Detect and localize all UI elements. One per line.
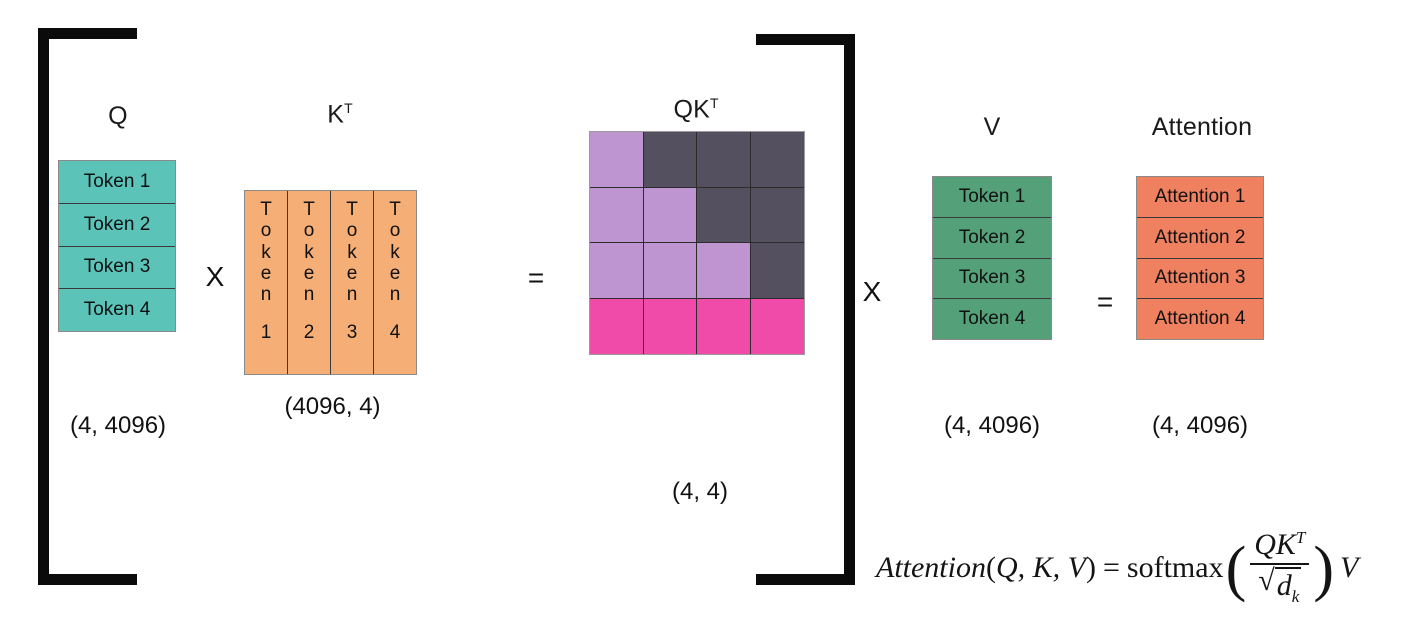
matrix-kt-letter: k <box>304 242 314 263</box>
matrix-attention-row: Attention 3 <box>1137 259 1263 300</box>
formula-trailing-v: V <box>1340 551 1358 585</box>
matrix-q-row: Token 1 <box>59 161 175 204</box>
formula-denominator: √dk <box>1254 565 1305 607</box>
formula-sqrt: √dk <box>1258 566 1301 607</box>
matrix-attention-row: Attention 4 <box>1137 299 1263 339</box>
matrix-kt-letter: o <box>390 220 401 241</box>
matrix-qkt-cell <box>697 243 751 299</box>
matrix-kt-column: T o k e n 1 <box>245 191 288 374</box>
matrix-qkt-cell <box>751 188 805 244</box>
operator-multiply-v: X <box>852 278 892 306</box>
matrix-kt-letter: T <box>389 199 401 220</box>
matrix-kt-letter: o <box>261 220 272 241</box>
matrix-qkt-cell <box>697 132 751 188</box>
formula-equals: = <box>1103 551 1120 585</box>
matrix-v-row: Token 2 <box>933 218 1051 259</box>
attention-formula: Attention(Q, K, V) = softmax ( QKT √dk )… <box>876 528 1358 607</box>
matrix-v: Token 1 Token 2 Token 3 Token 4 <box>932 176 1052 340</box>
matrix-kt-letter: e <box>390 263 401 284</box>
formula-open-paren: ( <box>986 551 996 585</box>
matrix-attention-row: Attention 2 <box>1137 218 1263 259</box>
matrix-kt-letter: n <box>390 284 401 305</box>
matrix-kt-column: T o k e n 2 <box>288 191 331 374</box>
dimension-label-v: (4, 4096) <box>932 412 1052 440</box>
formula-radicand: dk <box>1275 567 1302 607</box>
matrix-kt-index: 2 <box>304 322 315 343</box>
matrix-kt-letter: e <box>347 263 358 284</box>
dimension-label-qkt: (4, 4) <box>610 478 790 506</box>
formula-close-paren: ) <box>1086 551 1096 585</box>
formula-numerator-base: QK <box>1254 528 1296 561</box>
formula-denominator-base: d <box>1277 569 1292 602</box>
matrix-title-qkt-base: QK <box>673 95 710 123</box>
matrix-title-attention: Attention <box>1128 113 1276 142</box>
matrix-attention-row: Attention 1 <box>1137 177 1263 218</box>
dimension-label-q: (4, 4096) <box>58 412 178 440</box>
formula-args: Q, K, V <box>996 551 1086 585</box>
matrix-qkt-cell <box>590 188 644 244</box>
operator-equals-qkt: = <box>516 264 556 292</box>
matrix-v-row: Token 3 <box>933 259 1051 300</box>
operator-equals-attention: = <box>1090 288 1120 316</box>
matrix-kt-index: 3 <box>347 322 358 343</box>
formula-left-paren-big: ( <box>1226 544 1247 595</box>
matrix-v-row: Token 4 <box>933 299 1051 339</box>
matrix-qkt <box>589 131 805 355</box>
matrix-kt-letter: o <box>347 220 358 241</box>
matrix-qkt-cell <box>751 132 805 188</box>
matrix-title-q: Q <box>58 102 178 131</box>
matrix-qkt-cell <box>590 299 644 355</box>
matrix-q-row: Token 2 <box>59 204 175 247</box>
matrix-qkt-cell <box>697 299 751 355</box>
matrix-qkt-cell <box>590 132 644 188</box>
matrix-kt-letter: k <box>347 242 357 263</box>
matrix-kt-index: 4 <box>390 322 401 343</box>
matrix-q-row: Token 3 <box>59 247 175 290</box>
formula-numerator-superscript: T <box>1296 528 1305 547</box>
matrix-attention: Attention 1 Attention 2 Attention 3 Atte… <box>1136 176 1264 340</box>
matrix-qkt-cell <box>644 243 698 299</box>
matrix-kt-column: T o k e n 3 <box>331 191 374 374</box>
matrix-kt-index: 1 <box>261 322 272 343</box>
formula-right-paren-big: ) <box>1313 544 1334 595</box>
matrix-qkt-cell <box>644 188 698 244</box>
matrix-q: Token 1 Token 2 Token 3 Token 4 <box>58 160 176 332</box>
matrix-kt-letter: e <box>304 263 315 284</box>
matrix-title-kt-superscript: T <box>344 100 353 116</box>
matrix-qkt-cell <box>644 299 698 355</box>
matrix-kt-letter: n <box>261 284 272 305</box>
matrix-qkt-cell <box>751 243 805 299</box>
matrix-kt-letter: e <box>261 263 272 284</box>
matrix-title-qkt: QKT <box>636 95 756 124</box>
formula-numerator: QKT <box>1250 528 1309 563</box>
matrix-kt: T o k e n 1 T o k e n 2 T o k e n 3 T o … <box>244 190 417 375</box>
matrix-v-row: Token 1 <box>933 177 1051 218</box>
matrix-title-qkt-superscript: T <box>710 95 719 111</box>
formula-radical-sign: √ <box>1258 566 1274 607</box>
formula-softmax: softmax <box>1127 551 1224 585</box>
formula-fraction: QKT √dk <box>1250 528 1309 607</box>
dimension-label-attention: (4, 4096) <box>1136 412 1264 440</box>
dimension-label-kt: (4096, 4) <box>250 393 415 421</box>
matrix-title-kt-base: K <box>327 100 344 128</box>
matrix-kt-letter: n <box>304 284 315 305</box>
matrix-kt-letter: k <box>390 242 400 263</box>
operator-multiply-qk: X <box>195 263 235 291</box>
matrix-q-row: Token 4 <box>59 289 175 331</box>
formula-lhs: Attention <box>876 551 986 585</box>
matrix-kt-letter: T <box>346 199 358 220</box>
matrix-title-v: V <box>932 113 1052 142</box>
matrix-qkt-cell <box>590 243 644 299</box>
matrix-kt-letter: T <box>260 199 272 220</box>
matrix-title-kt: KT <box>290 100 390 129</box>
matrix-qkt-cell <box>751 299 805 355</box>
matrix-kt-letter: k <box>261 242 271 263</box>
matrix-kt-column: T o k e n 4 <box>374 191 416 374</box>
formula-denominator-subscript: k <box>1292 587 1300 606</box>
matrix-kt-letter: o <box>304 220 315 241</box>
matrix-qkt-cell <box>644 132 698 188</box>
matrix-qkt-cell <box>697 188 751 244</box>
diagram-canvas: Q Token 1 Token 2 Token 3 Token 4 (4, 40… <box>0 0 1422 635</box>
matrix-kt-letter: n <box>347 284 358 305</box>
matrix-kt-letter: T <box>303 199 315 220</box>
